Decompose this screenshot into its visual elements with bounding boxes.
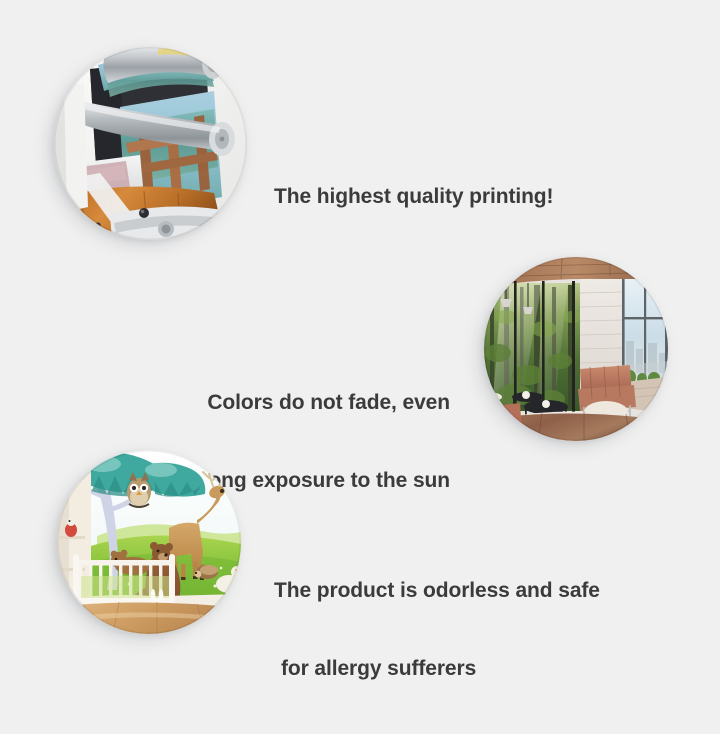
- living-room-forest-mural-icon: [484, 257, 668, 441]
- caption-line: for allergy sufferers: [274, 656, 600, 682]
- caption-line: Colors do not fade, even: [150, 390, 450, 416]
- feature-image-printing-quality: [54, 47, 247, 240]
- wide-format-printing-machine-icon: [54, 47, 247, 240]
- nursery-animal-mural-icon: [57, 450, 241, 634]
- feature-image-colorfast: [484, 257, 668, 441]
- infographic-canvas: The highest quality printing!: [0, 0, 720, 720]
- feature-caption-odorless-safe: The product is odorless and safe for all…: [274, 526, 600, 734]
- feature-caption-printing-quality: The highest quality printing!: [274, 132, 553, 262]
- feature-image-odorless-safe: [57, 450, 241, 634]
- caption-line: The product is odorless and safe: [274, 578, 600, 604]
- caption-line: The highest quality printing!: [274, 184, 553, 210]
